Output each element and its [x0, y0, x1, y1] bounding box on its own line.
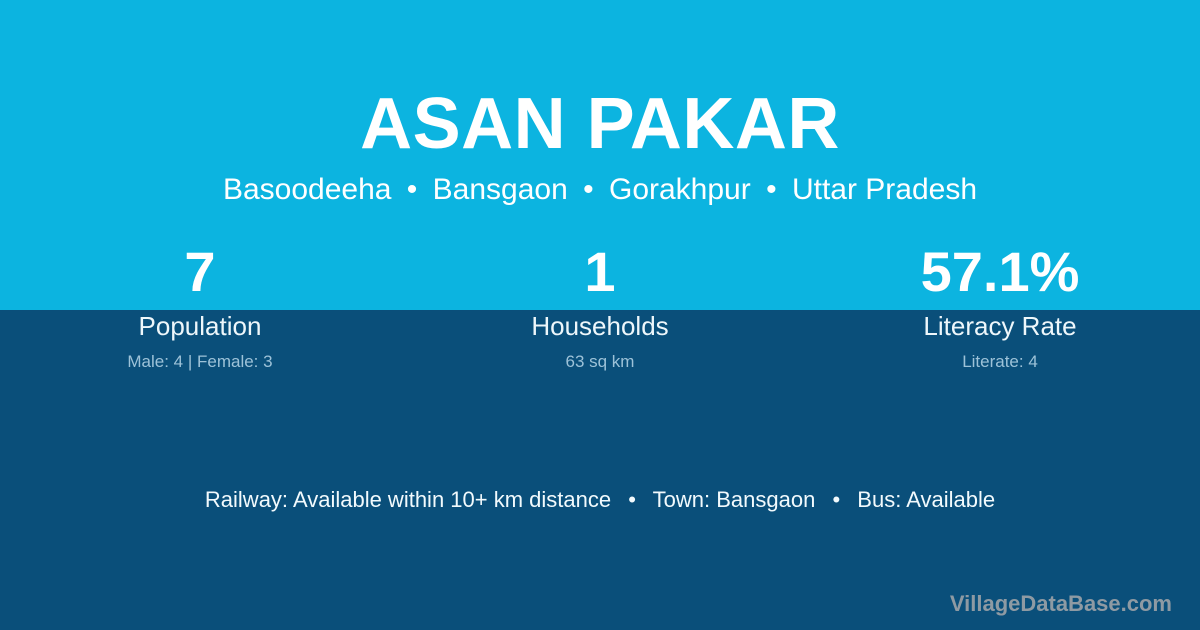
stat-label: Literacy Rate: [800, 311, 1200, 341]
breadcrumb-separator: •: [576, 173, 601, 206]
stat-value: 57.1%: [800, 240, 1200, 304]
breadcrumb-item-state: Uttar Pradesh: [792, 173, 977, 206]
info-separator: •: [617, 487, 647, 512]
stats-row: 7 Population Male: 4 | Female: 3 1 House…: [0, 240, 1200, 372]
info-item-town: Town: Bansgaon: [653, 487, 816, 512]
page-title: ASAN PAKAR: [0, 0, 1200, 163]
breadcrumb-item-district: Gorakhpur: [609, 173, 751, 206]
site-watermark: VillageDataBase.com: [950, 590, 1172, 618]
stat-literacy-rate: 57.1% Literacy Rate Literate: 4: [800, 240, 1200, 372]
amenities-info-line: Railway: Available within 10+ km distanc…: [0, 485, 1200, 515]
breadcrumb-item-block: Bansgaon: [433, 173, 568, 206]
stat-sublabel: 63 sq km: [400, 352, 800, 372]
stat-sublabel: Literate: 4: [800, 352, 1200, 372]
info-item-bus: Bus: Available: [857, 487, 995, 512]
stat-sublabel: Male: 4 | Female: 3: [0, 352, 400, 372]
stat-households: 1 Households 63 sq km: [400, 240, 800, 372]
breadcrumb-separator: •: [400, 173, 425, 206]
breadcrumb: Basoodeeha • Bansgaon • Gorakhpur • Utta…: [0, 163, 1200, 209]
stat-value: 1: [400, 240, 800, 304]
stat-label: Population: [0, 311, 400, 341]
stat-population: 7 Population Male: 4 | Female: 3: [0, 240, 400, 372]
village-info-card: ASAN PAKAR Basoodeeha • Bansgaon • Gorak…: [0, 0, 1200, 630]
card-header: ASAN PAKAR Basoodeeha • Bansgaon • Gorak…: [0, 0, 1200, 209]
breadcrumb-item-village: Basoodeeha: [223, 173, 392, 206]
info-separator: •: [821, 487, 851, 512]
stat-value: 7: [0, 240, 400, 304]
breadcrumb-separator: •: [759, 173, 784, 206]
stat-label: Households: [400, 311, 800, 341]
info-item-railway: Railway: Available within 10+ km distanc…: [205, 487, 611, 512]
